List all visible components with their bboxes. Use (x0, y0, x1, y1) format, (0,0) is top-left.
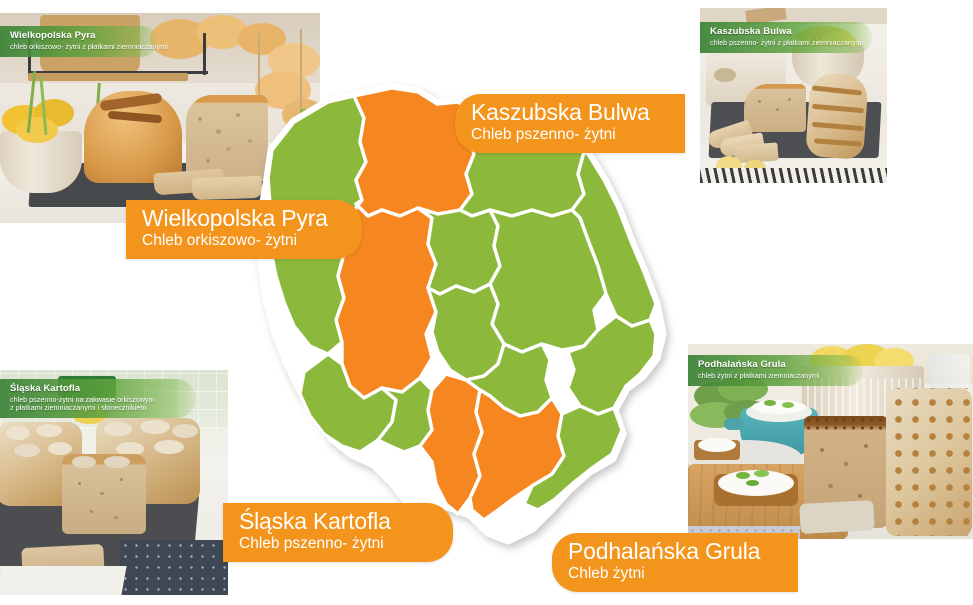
photo-badge-desc: chleb orkiszowo- żytni z płatkami ziemni… (10, 43, 135, 51)
callout-podhalanska-grula[interactable]: Podhalańska Grula Chleb żytni (552, 533, 798, 592)
product-photo-kaszubska-bulwa[interactable]: Kaszubska Bulwa chleb pszenno- żytni z p… (700, 8, 887, 183)
callout-title: Wielkopolska Pyra (142, 206, 346, 230)
callout-subtitle: Chleb pszenno- żytni (471, 127, 669, 143)
product-photo-slaska-kartofla[interactable]: Śląska Kartofla chleb pszenno-żytni na z… (0, 370, 228, 595)
callout-kaszubska-bulwa[interactable]: Kaszubska Bulwa Chleb pszenno- żytni (455, 94, 685, 153)
callout-subtitle: Chleb żytni (568, 566, 782, 582)
callout-title: Śląska Kartofla (239, 509, 437, 533)
region-pomorskie[interactable] (354, 88, 474, 216)
photo-badge-title: Podhalańska Grula (698, 360, 841, 371)
photo-badge-slaska-kartofla: Śląska Kartofla chleb pszenno-żytni na z… (0, 379, 196, 418)
callout-slaska-kartofla[interactable]: Śląska Kartofla Chleb pszenno- żytni (223, 503, 453, 562)
photo-badge-wielkopolska-pyra: Wielkopolska Pyra chleb orkiszowo- żytni… (0, 26, 157, 57)
photo-badge-desc: chleb pszenno-żytni na zakwasie orkiszow… (10, 396, 174, 413)
photo-badge-desc: chleb pszenno- żytni z płatkami ziemniac… (710, 39, 850, 47)
photo-badge-kaszubska-bulwa: Kaszubska Bulwa chleb pszenno- żytni z p… (700, 22, 872, 53)
photo-badge-title: Kaszubska Bulwa (710, 27, 850, 38)
photo-badge-title: Wielkopolska Pyra (10, 31, 135, 42)
callout-title: Podhalańska Grula (568, 539, 782, 563)
region-kujawsko-pomorskie[interactable] (418, 208, 500, 294)
photo-badge-podhalanska-grula: Podhalańska Grula chleb żytni z płatkami… (688, 355, 863, 386)
photo-badge-desc: chleb żytni z płatkami ziemniaczanymi (698, 372, 841, 380)
callout-wielkopolska-pyra[interactable]: Wielkopolska Pyra Chleb orkiszowo- żytni (126, 200, 362, 259)
callout-title: Kaszubska Bulwa (471, 100, 669, 124)
product-photo-podhalanska-grula[interactable]: Podhalańska Grula chleb żytni z płatkami… (688, 344, 973, 539)
poster-stage: Wielkopolska Pyra chleb orkiszowo- żytni… (0, 0, 973, 605)
callout-subtitle: Chleb orkiszowo- żytni (142, 233, 346, 249)
callout-subtitle: Chleb pszenno- żytni (239, 536, 437, 552)
photo-badge-title: Śląska Kartofla (10, 384, 174, 395)
